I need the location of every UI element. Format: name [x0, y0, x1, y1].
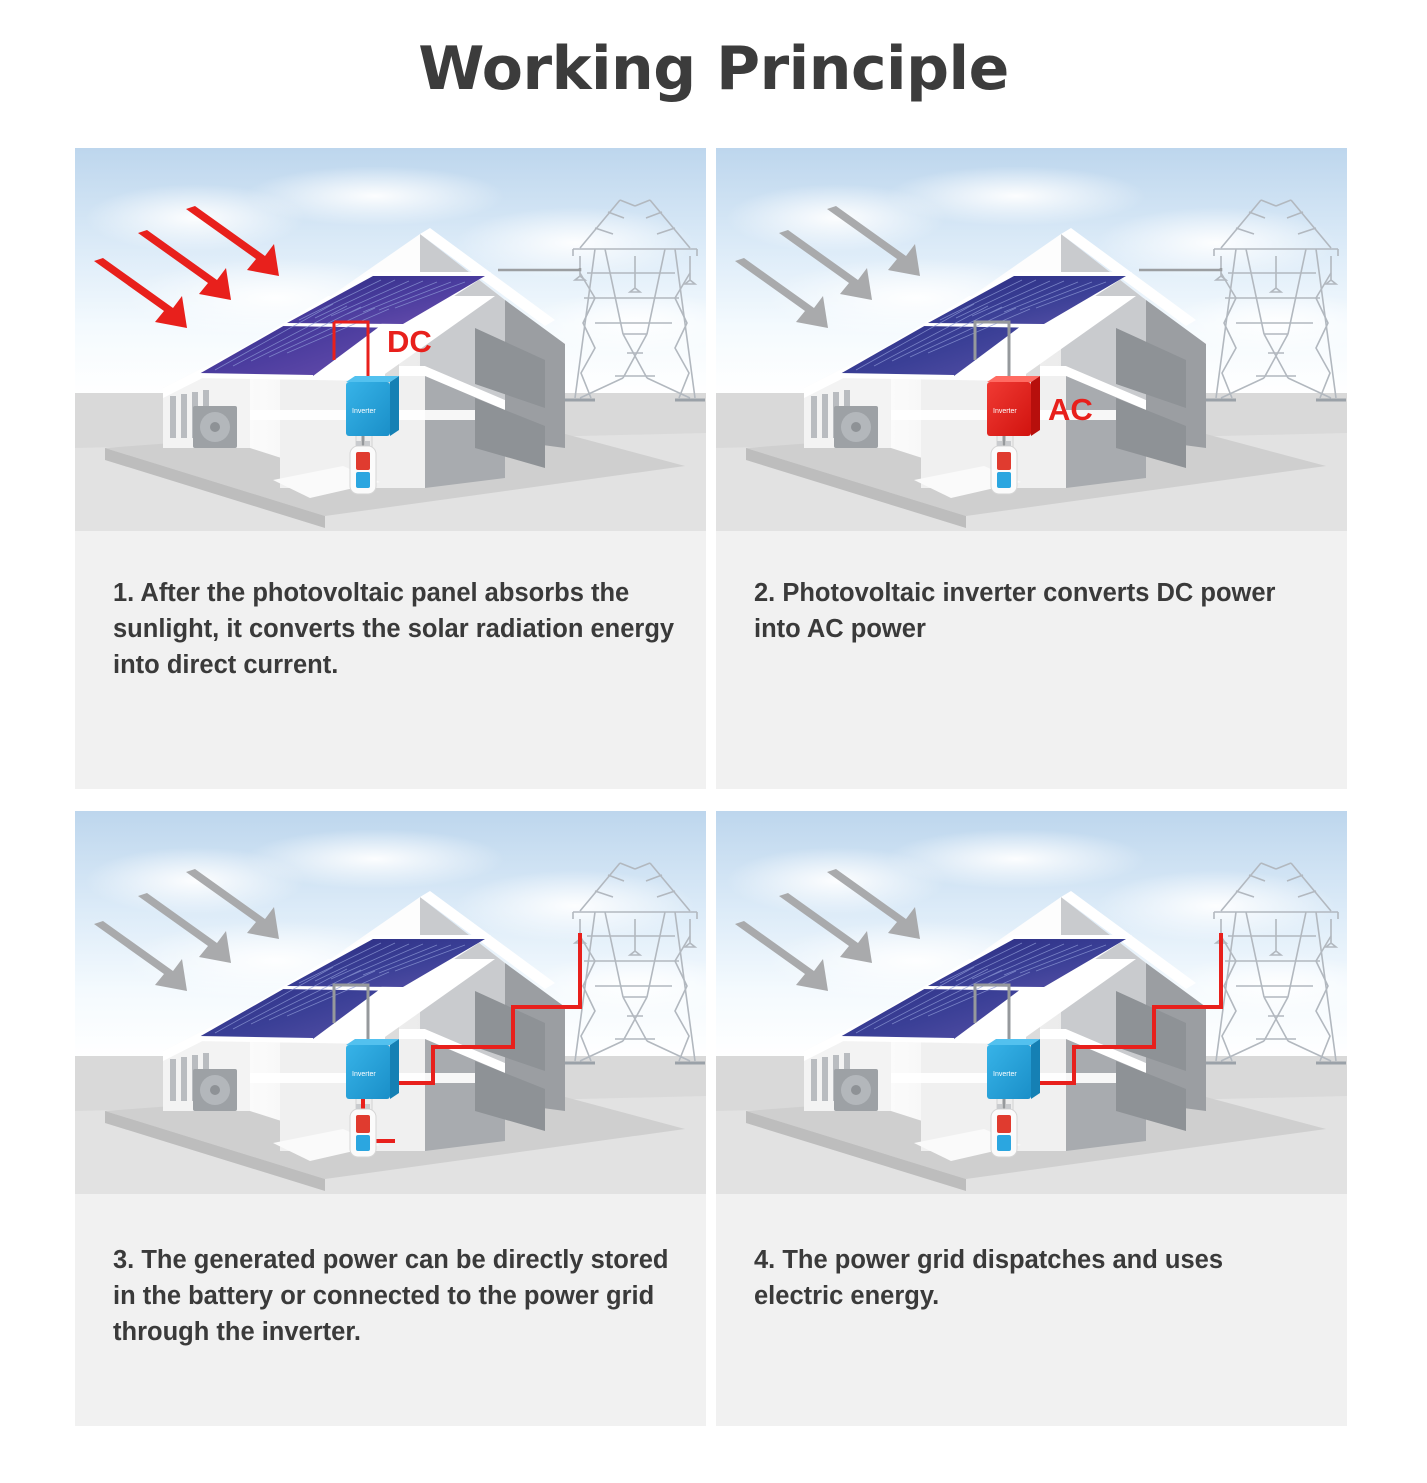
battery: [350, 1104, 376, 1157]
illustration-2: Inverter AC: [716, 148, 1347, 531]
ac-label: AC: [1048, 392, 1093, 427]
inverter: Inverter: [987, 1039, 1040, 1099]
steps-row-bottom: Inverter 3. The gener: [75, 811, 1347, 1426]
inverter: Inverter: [346, 376, 399, 436]
steps-row-top: DC Inverter: [75, 148, 1347, 789]
steps-grid: DC Inverter: [75, 148, 1347, 1448]
step-card-3: Inverter 3. The gener: [75, 811, 706, 1426]
illustration-1: DC Inverter: [75, 148, 706, 531]
inverter-label: Inverter: [993, 408, 1017, 415]
step-card-4: Inverter 4. The power grid dispatc: [716, 811, 1347, 1426]
inverter-label: Inverter: [993, 1071, 1017, 1078]
illustration-4: Inverter: [716, 811, 1347, 1194]
step-caption-4: 4. The power grid dispatches and uses el…: [716, 1194, 1347, 1426]
inverter: Inverter: [346, 1039, 399, 1099]
dc-label: DC: [387, 324, 432, 359]
inverter-label: Inverter: [352, 408, 376, 415]
illustration-3: Inverter: [75, 811, 706, 1194]
battery: [991, 1104, 1017, 1157]
battery: [991, 441, 1017, 494]
inverter: Inverter: [987, 376, 1040, 436]
working-principle-infographic: Working Principle: [0, 0, 1427, 1483]
step-caption-3: 3. The generated power can be directly s…: [75, 1194, 706, 1426]
step-card-2: Inverter AC 2. Photovo: [716, 148, 1347, 789]
step-caption-1: 1. After the photovoltaic panel absorbs …: [75, 531, 706, 789]
page-title: Working Principle: [0, 34, 1427, 104]
inverter-label: Inverter: [352, 1071, 376, 1078]
step-card-1: DC Inverter: [75, 148, 706, 789]
step-caption-2: 2. Photovoltaic inverter converts DC pow…: [716, 531, 1347, 789]
battery: [350, 441, 376, 494]
